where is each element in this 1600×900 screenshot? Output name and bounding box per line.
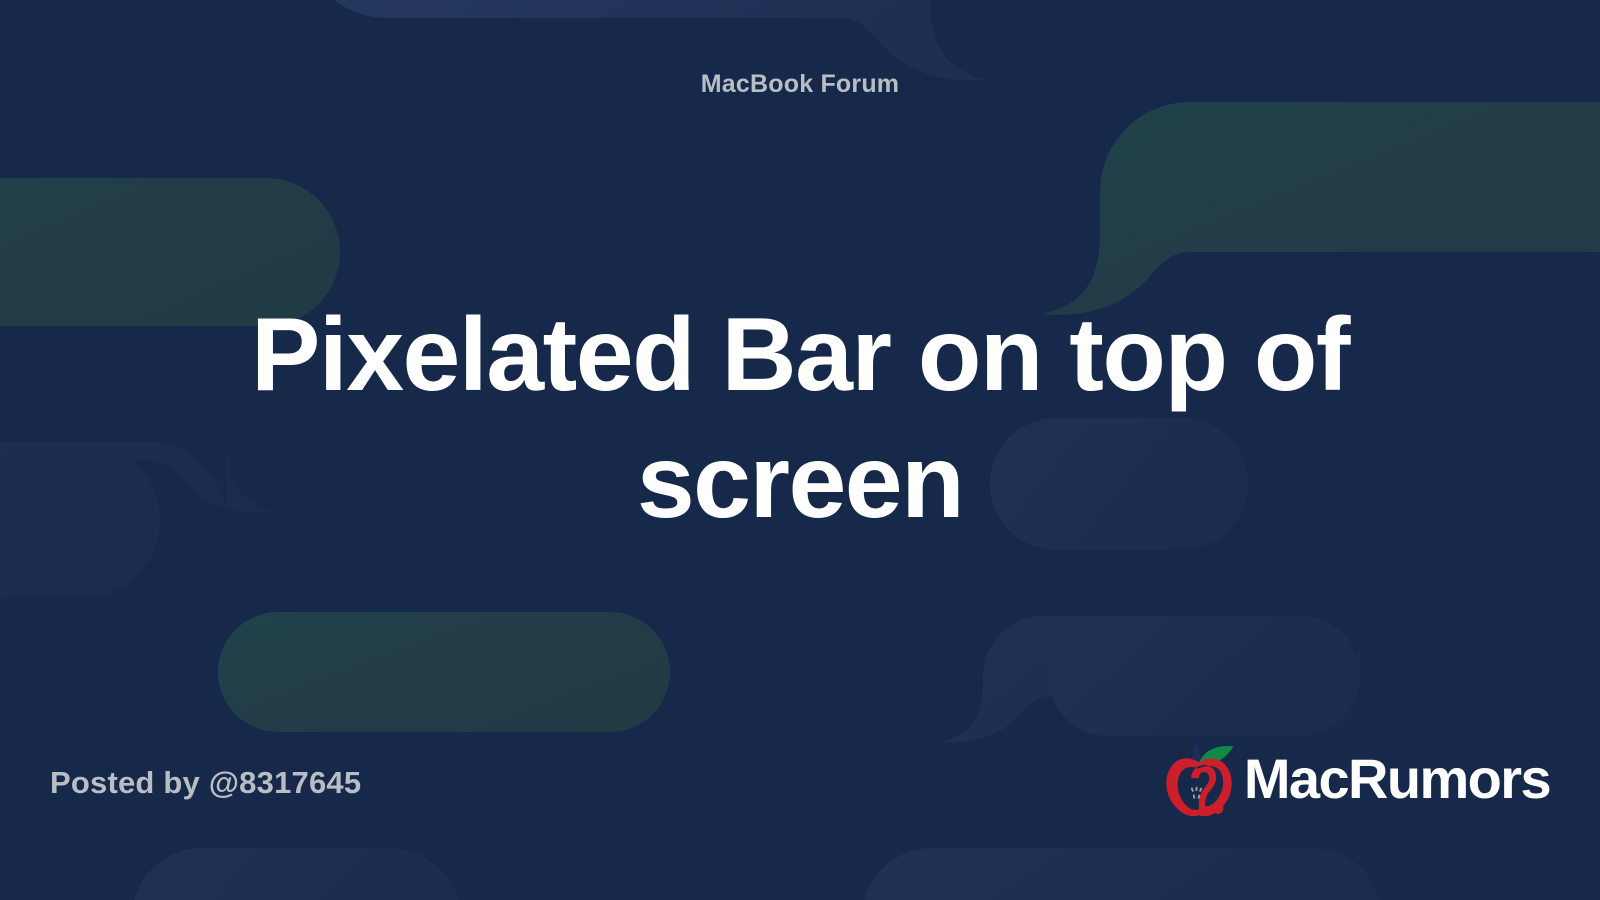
macrumors-wordmark: MacRumors: [1244, 751, 1550, 807]
macrumors-apple-question-mark-icon: [1156, 736, 1242, 822]
apple-dot-icon: [1212, 803, 1223, 814]
post-title-container: Pixelated Bar on top of screen: [0, 292, 1600, 546]
macrumors-logo[interactable]: MacRumors: [1156, 736, 1550, 822]
page-title: Pixelated Bar on top of screen: [240, 292, 1360, 546]
forum-label: MacBook Forum: [701, 72, 899, 97]
card-content: MacBook Forum Pixelated Bar on top of sc…: [0, 0, 1600, 900]
posted-by-label: Posted by @8317645: [50, 767, 361, 798]
share-card: MacBook Forum Pixelated Bar on top of sc…: [0, 0, 1600, 900]
